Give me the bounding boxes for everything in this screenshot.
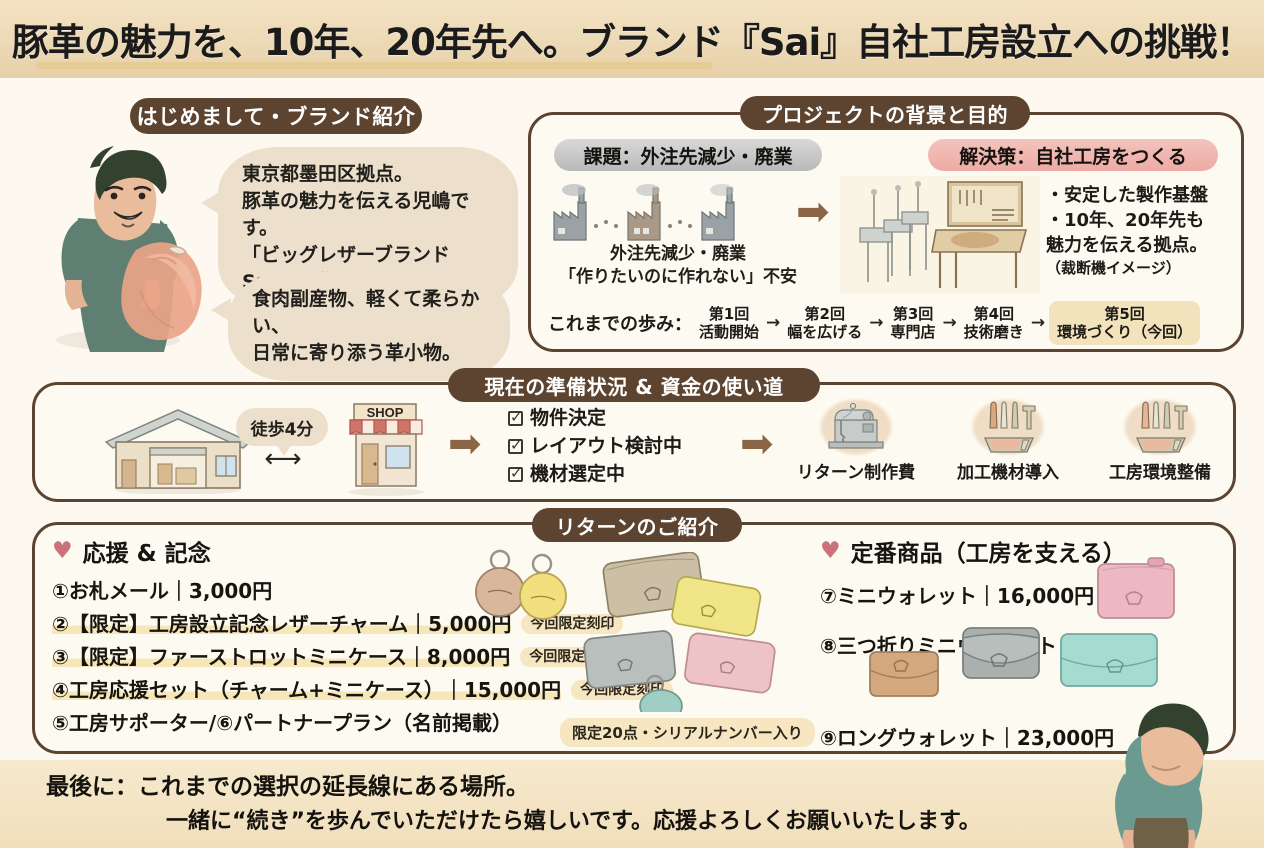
arrow-right-icon-prep: ➡ [448,424,482,464]
history-timeline: これまでの歩み： 第1回 活動開始 → 第2回 幅を広げる → 第3回 専門店 … [548,300,1238,346]
factories-illustration [548,182,778,244]
arrow-right-icon: ➡ [796,192,830,232]
founder-illustration [40,140,225,355]
solution-bullet-0: ・安定した製作基盤 [1046,184,1246,209]
page-title: 豚革の魅力を、10年、20年先へ。ブランド『Sai』自社工房設立への挑戦！ [12,12,1252,66]
heart-icon: ♥ [820,538,841,564]
section-header-intro: はじめまして・ブランド紹介 [130,98,422,134]
heart-icon: ♥ [52,538,73,564]
timeline-arrow-1: → [766,313,780,333]
timeline-step-5-current: 第5回 環境づくり（今回） [1049,301,1200,345]
checklist-item-1-label: レイアウト検討中 [530,432,682,460]
solution-bullet-2: 魅力を伝える拠点。 [1046,234,1246,259]
timeline-arrow-2: → [869,313,883,333]
fund-item-2: 工房環境整備 [1090,398,1230,483]
tools-icon [971,398,1045,456]
distance-arrow-icon: ⟷ [238,444,328,474]
checklist-item-0-label: 物件決定 [530,404,606,432]
fund-item-1: 加工機材導入 [938,398,1078,483]
fund-item-0-label: リターン制作費 [786,458,926,483]
tan-trifold-wallet-illustration [862,638,948,710]
timeline-step-4: 第4回 技術磨き [961,303,1027,343]
title-underline [36,62,712,69]
checklist-item-0: 物件決定 [508,404,728,432]
timeline-step-5-no: 第5回 [1057,305,1192,323]
fund-item-2-label: 工房環境整備 [1090,458,1230,483]
charms-illustration [470,540,590,630]
timeline-step-2-name: 幅を広げる [787,323,862,341]
return-item-3-text: ③【限定】ファーストロットミニケース｜8,000円 [52,647,510,667]
timeline-step-4-no: 第4回 [964,305,1024,323]
return-item-5-6-text: ⑤工房サポーター/⑥パートナープラン（名前掲載） [52,713,512,733]
limited-edition-note: 限定20点・シリアルナンバー入り [560,718,815,747]
intro-bubble-material: 食肉副産物、軽くて柔らかい、 日常に寄り添う革小物。 [228,272,510,381]
return-item-9-text: ⑨ロングウォレット｜23,000円 [820,728,1114,748]
checklist-item-2: 機材選定中 [508,460,728,488]
shop-illustration: SHOP [338,400,434,496]
checkbox-checked-icon [508,467,523,482]
workbench-icon [1123,398,1197,456]
section-header-background: プロジェクトの背景と目的 [740,96,1030,130]
return-item-1-text: ①お札メール｜3,000円 [52,581,272,601]
returns-right-heading-text: 定番商品（工房を支える） [851,534,1126,568]
mini-cases-illustration [575,552,790,712]
returns-left-heading-text: 応援 & 記念 [83,534,211,568]
intro-bubble-material-text: 食肉副産物、軽くて柔らかい、 日常に寄り添う革小物。 [252,288,479,364]
timeline-step-2: 第2回 幅を広げる [784,303,865,343]
warehouse-illustration [98,406,258,494]
return-item-4[interactable]: ④工房応援セット（チャーム+ミニケース）｜15,000円 今回限定刻印 [52,680,572,700]
timeline-arrow-3: → [943,313,957,333]
badge-solution: 解決策：自社工房をつくる [928,139,1218,171]
timeline-step-1: 第1回 活動開始 [696,303,762,343]
closing-line-1: 最後に：これまでの選択の延長線にある場所。 [46,770,1066,805]
preparation-checklist: 物件決定 レイアウト検討中 機材選定中 [508,404,728,488]
issue-caption: 外注先減少・廃業 「作りたいのに作れない」不安 [548,243,808,289]
checkbox-checked-icon [508,411,523,426]
closing-message: 最後に：これまでの選択の延長線にある場所。 一緒に“続き”を歩んでいただけたら嬉… [46,770,1066,838]
section-header-returns: リターンのご紹介 [532,508,742,542]
timeline-step-1-no: 第1回 [699,305,759,323]
solution-bullet-1: ・10年、20年先も [1046,209,1246,234]
timeline-arrow-4: → [1031,313,1045,333]
workshop-illustration [840,176,1040,294]
timeline-step-3: 第3回 専門店 [888,303,939,343]
timeline-step-4-name: 技術磨き [964,323,1024,341]
gray-trifold-wallet-illustration [955,612,1047,692]
svg-text:SHOP: SHOP [367,405,404,420]
timeline-label: これまでの歩み： [548,310,692,336]
mint-long-wallet-illustration [1055,620,1165,700]
infographic-page: 豚革の魅力を、10年、20年先へ。ブランド『Sai』自社工房設立への挑戦！ はじ… [0,0,1264,848]
fund-item-1-label: 加工機材導入 [938,458,1078,483]
fund-item-0: リターン制作費 [786,398,926,483]
return-item-5-6[interactable]: ⑤工房サポーター/⑥パートナープラン（名前掲載） [52,713,572,733]
checklist-item-2-label: 機材選定中 [530,460,625,488]
timeline-step-3-name: 専門店 [891,323,936,341]
bowing-person-illustration [1090,700,1240,848]
badge-issue: 課題：外注先減少・廃業 [554,139,822,171]
return-item-3[interactable]: ③【限定】ファーストロットミニケース｜8,000円 今回限定刻印 [52,647,572,667]
timeline-step-2-no: 第2回 [787,305,862,323]
solution-subnote: （裁断機イメージ） [1046,258,1246,279]
timeline-step-5-name: 環境づくり（今回） [1057,323,1192,341]
solution-bullets: ・安定した製作基盤 ・10年、20年先も 魅力を伝える拠点。 （裁断機イメージ） [1046,184,1246,279]
arrow-right-icon-funds: ➡ [740,424,774,464]
timeline-step-3-no: 第3回 [891,305,936,323]
sewing-machine-icon [819,398,893,456]
section-header-preparation: 現在の準備状況 & 資金の使い道 [448,368,820,402]
return-item-4-text: ④工房応援セット（チャーム+ミニケース）｜15,000円 [52,680,561,700]
return-item-2-text: ②【限定】工房設立記念レザーチャーム｜5,000円 [52,614,511,634]
walk-time-bubble: 徒歩4分 [236,408,328,446]
checkbox-checked-icon [508,439,523,454]
closing-line-2: 一緒に“続き”を歩んでいただけたら嬉しいです。応援よろしくお願いいたします。 [166,805,1066,838]
checklist-item-1: レイアウト検討中 [508,432,728,460]
fund-usage-list: リターン制作費 加工機材導入 [786,398,1230,483]
timeline-step-1-name: 活動開始 [699,323,759,341]
return-item-7-text: ⑦ミニウォレット｜16,000円 [820,586,1094,606]
